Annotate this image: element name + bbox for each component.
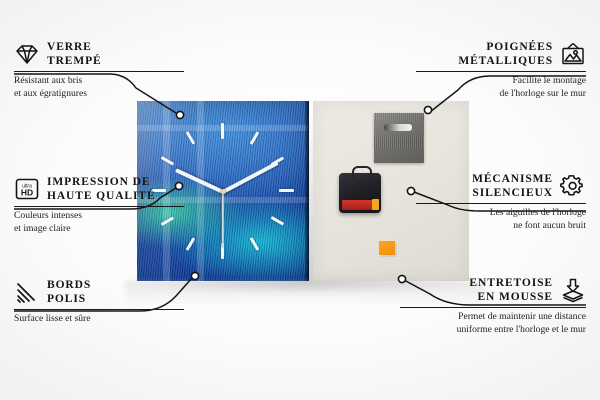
feature-description: Facilite le montage de l'horloge sur le … [416,75,586,100]
feature-bords-polis: BORDS POLIS Surface lisse et sûre [14,278,184,326]
second-hand [222,192,224,248]
feature-header: ultra HD IMPRESSION DE HAUTE QUALITÉ [14,175,184,203]
feature-title: VERRE TREMPÉ [47,40,102,68]
feature-title: MÉCANISME SILENCIEUX [472,172,553,200]
ultra-hd-icon: ultra HD [14,177,40,201]
feature-title: ENTRETOISE EN MOUSSE [469,276,553,304]
feature-mecanisme-silencieux: MÉCANISME SILENCIEUX Les aiguilles de l'… [416,172,586,232]
hour-tick [186,131,195,144]
feature-divider [14,71,184,72]
battery-terminal [372,199,379,210]
feature-verre-trempe: VERRE TREMPÉ Résistant aux bris et aux é… [14,40,184,100]
minute-hand [222,161,279,194]
svg-text:HD: HD [21,188,33,198]
diagonal-lines-icon [14,280,40,304]
battery [342,200,376,210]
feature-impression-haute-qualite: ultra HD IMPRESSION DE HAUTE QUALITÉ Cou… [14,175,184,235]
feature-divider [400,307,586,308]
hands-hub [221,189,226,194]
feature-title: IMPRESSION DE HAUTE QUALITÉ [47,175,156,203]
feature-header: POIGNÉES MÉTALLIQUES [416,40,586,68]
feature-entretoise-en-mousse: ENTRETOISE EN MOUSSE Permet de maintenir… [400,276,586,336]
feature-divider [416,203,586,204]
feature-poignees-metalliques: POIGNÉES MÉTALLIQUES Facilite le montage… [416,40,586,100]
hour-tick [250,237,259,250]
hanger-loop [352,166,372,178]
feature-description: Couleurs intenses et image claire [14,210,184,235]
feature-divider [416,71,586,72]
infographic-canvas: VERRE TREMPÉ Résistant aux bris et aux é… [0,0,600,400]
arrow-onto-layers-icon [560,278,586,302]
quartz-mechanism [339,173,381,213]
feature-divider [14,206,184,207]
feature-title: BORDS POLIS [47,278,91,306]
hour-tick [279,189,294,192]
hanging-picture-frame-icon [560,42,586,66]
hour-tick [221,123,224,139]
hour-tick [186,237,195,250]
gear-icon [560,174,586,198]
feature-description: Permet de maintenir une distance uniform… [400,311,586,336]
diamond-icon [14,42,40,66]
hour-tick [271,216,284,225]
glass-right-edge [305,101,309,281]
feature-header: BORDS POLIS [14,278,184,306]
feature-description: Surface lisse et sûre [14,313,184,325]
feature-header: VERRE TREMPÉ [14,40,184,68]
feature-title: POIGNÉES MÉTALLIQUES [458,40,553,68]
foam-spacer [379,241,395,255]
metal-hanger-plate [374,113,424,163]
feature-description: Résistant aux bris et aux égratignures [14,75,184,100]
feature-header: MÉCANISME SILENCIEUX [416,172,586,200]
keyhole-slot [384,124,412,131]
feature-header: ENTRETOISE EN MOUSSE [400,276,586,304]
hour-tick [250,131,259,144]
feature-description: Les aiguilles de l'horloge ne font aucun… [416,207,586,232]
feature-divider [14,309,184,310]
